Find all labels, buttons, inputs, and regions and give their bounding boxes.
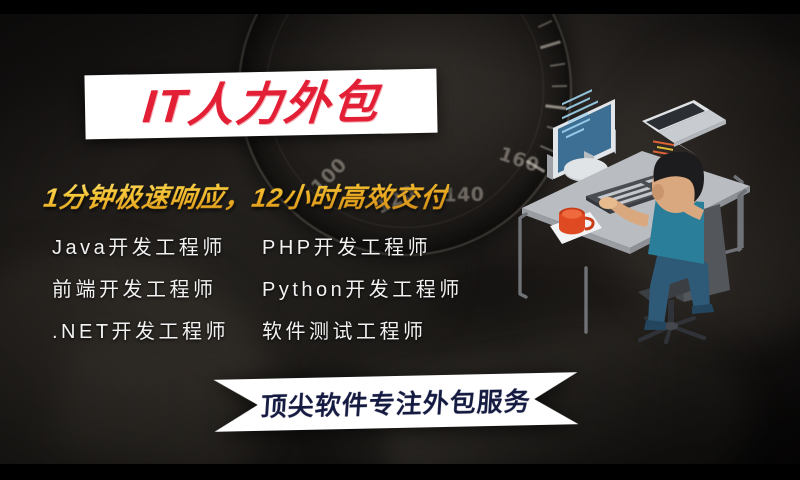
- service-item: 软件测试工程师: [262, 315, 492, 344]
- bottom-letterbox-bar: [0, 464, 800, 480]
- service-item: .NET开发工程师: [52, 315, 262, 344]
- top-letterbox-bar: [0, 0, 800, 14]
- service-list: Java开发工程师 PHP开发工程师 前端开发工程师 Python开发工程师 .…: [52, 224, 492, 350]
- service-row: 前端开发工程师 Python开发工程师: [52, 266, 492, 308]
- poster-root: 100 120 140 160: [0, 0, 800, 480]
- service-item: Python开发工程师: [262, 273, 492, 302]
- service-row: .NET开发工程师 软件测试工程师: [52, 308, 492, 350]
- subtitle-text: 1分钟极速响应，12小时高效交付: [42, 176, 451, 215]
- page-title: IT人力外包: [141, 79, 382, 130]
- desktop-monitor-icon: [547, 89, 616, 182]
- service-item: 前端开发工程师: [52, 273, 262, 302]
- bottom-ribbon: 顶尖软件专注外包服务: [213, 372, 578, 432]
- ribbon-label: 顶尖软件专注外包服务: [212, 372, 579, 432]
- title-banner: IT人力外包: [84, 69, 437, 140]
- service-item: PHP开发工程师: [262, 231, 492, 260]
- service-row: Java开发工程师 PHP开发工程师: [52, 224, 492, 266]
- service-item: Java开发工程师: [52, 231, 262, 260]
- developer-at-desk-illustration: [498, 78, 798, 344]
